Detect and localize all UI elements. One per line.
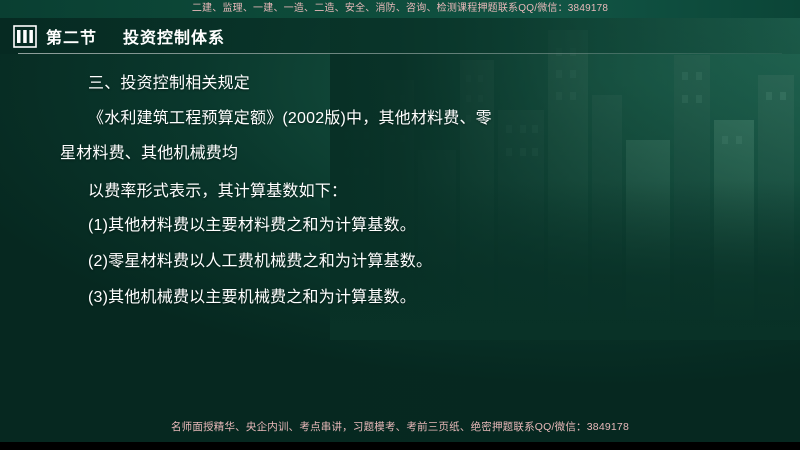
content-line-item-2: (2)零星材料费以人工费机械费之和为计算基数。: [88, 252, 432, 272]
page-title: 投资控制体系: [123, 24, 225, 48]
content-line-2: 星材料费、其他机械费均: [60, 144, 238, 164]
section-number: 第二节: [46, 24, 97, 48]
slide-root: 二建、监理、一建、一造、二造、安全、消防、咨询、检测课程押题联系QQ/微信：38…: [0, 0, 800, 450]
content-line-heading: 三、投资控制相关规定: [88, 74, 250, 94]
top-banner-text: 二建、监理、一建、一造、二造、安全、消防、咨询、检测课程押题联系QQ/微信：38…: [0, 0, 800, 18]
bottom-letterbox-bar: [0, 442, 800, 450]
building-logo-icon: [12, 23, 38, 49]
title-divider: [18, 53, 782, 54]
title-bar: 第二节 投资控制体系: [0, 18, 800, 54]
content-line-item-3: (3)其他机械费以主要机械费之和为计算基数。: [88, 288, 416, 308]
content-line-item-1: (1)其他材料费以主要材料费之和为计算基数。: [88, 216, 416, 236]
content-line-3: 以费率形式表示，其计算基数如下：: [88, 182, 347, 202]
footer-text: 名师面授精华、央企内训、考点串讲，习题模考、考前三页纸、绝密押题联系QQ/微信：…: [0, 419, 800, 434]
content-line-1: 《水利建筑工程预算定额》(2002版)中，其他材料费、零: [88, 109, 492, 129]
